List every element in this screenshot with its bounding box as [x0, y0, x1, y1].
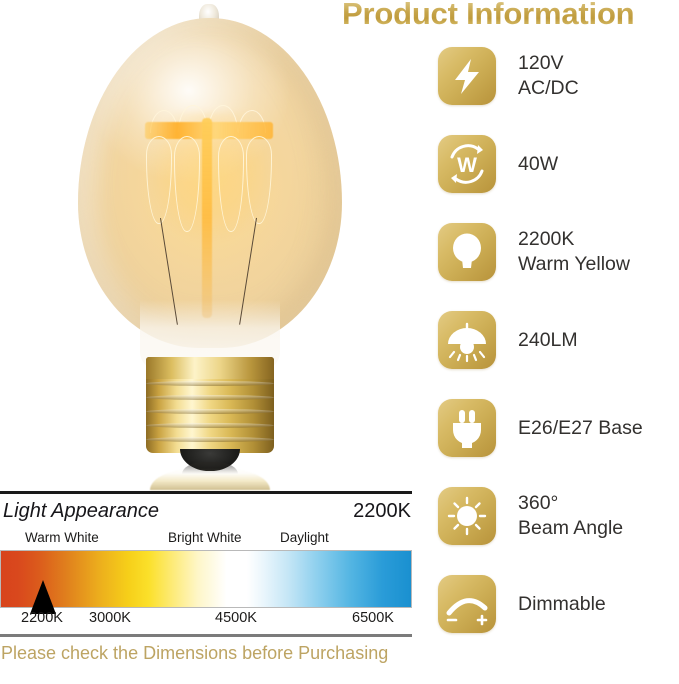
base-thread [146, 409, 274, 414]
spec-label-beam-angle: 360° Beam Angle [518, 491, 623, 541]
panel-divider-top [0, 491, 412, 494]
plug-icon [438, 399, 496, 457]
light-appearance-title: Light Appearance [3, 500, 159, 523]
base-thread [146, 381, 274, 386]
zone-label-bright-white: Bright White [168, 530, 242, 545]
dimmer-arc-icon [438, 575, 496, 633]
spec-row-lumens: 240LM [438, 310, 679, 370]
lamp-shade-icon [438, 311, 496, 369]
product-information-panel: Product Information 120V AC/DC W 40W [438, 0, 679, 684]
color-temperature-gradient-bar [0, 550, 412, 608]
spec-label-color-temp: 2200K Warm Yellow [518, 227, 630, 277]
spec-label-base: E26/E27 Base [518, 416, 643, 441]
light-appearance-value: 2200K [353, 500, 411, 523]
color-temperature-marker [30, 580, 56, 614]
page-title: Product Information [342, 0, 679, 32]
light-appearance-panel: Light Appearance 2200K Warm White Bright… [0, 488, 420, 684]
spec-row-voltage: 120V AC/DC [438, 46, 679, 106]
base-thread [146, 437, 274, 442]
spec-row-base: E26/E27 Base [438, 398, 679, 458]
svg-text:W: W [457, 154, 477, 177]
zone-label-daylight: Daylight [280, 530, 329, 545]
spec-row-color-temp: 2200K Warm Yellow [438, 222, 679, 282]
wattage-w-icon: W [438, 135, 496, 193]
base-thread [146, 395, 274, 400]
spec-label-dimmable: Dimmable [518, 592, 606, 617]
product-bulb-image [0, 0, 420, 492]
spec-row-beam-angle: 360° Beam Angle [438, 486, 679, 546]
base-surface-reflection [150, 468, 270, 490]
zone-label-warm-white: Warm White [25, 530, 99, 545]
filament-stem [202, 118, 212, 318]
lightning-bolt-icon [438, 47, 496, 105]
base-collar [146, 357, 274, 379]
scale-label-3000k: 3000K [89, 610, 131, 626]
base-thread [146, 423, 274, 428]
dimensions-notice: Please check the Dimensions before Purch… [1, 643, 388, 664]
spec-row-wattage: W 40W [438, 134, 679, 194]
scale-label-6500k: 6500K [352, 610, 394, 626]
bulb-icon [438, 223, 496, 281]
spec-label-lumens: 240LM [518, 328, 578, 353]
panel-divider-bottom [0, 634, 412, 637]
scale-label-2200k: 2200K [21, 610, 63, 626]
sun-rays-icon [438, 487, 496, 545]
spec-row-dimmable: Dimmable [438, 574, 679, 634]
spec-label-wattage: 40W [518, 152, 558, 177]
spec-label-voltage: 120V AC/DC [518, 51, 579, 101]
scale-label-4500k: 4500K [215, 610, 257, 626]
